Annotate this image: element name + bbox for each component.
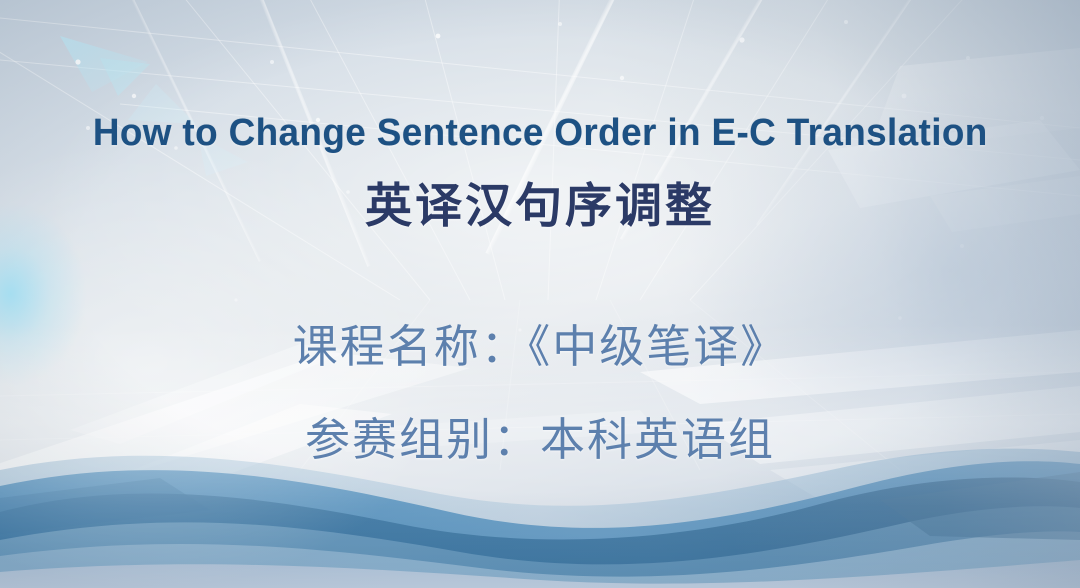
course-meta-block: 课程名称：《中级笔译》 参赛组别：本科英语组 [293,310,788,468]
contest-group-line: 参赛组别：本科英语组 [305,403,775,468]
title-text-block: How to Change Sentence Order in E-C Tran… [0,0,1080,588]
english-title: How to Change Sentence Order in E-C Tran… [93,112,988,155]
course-name-line: 课程名称：《中级笔译》 [293,310,788,375]
title-slide: How to Change Sentence Order in E-C Tran… [0,0,1080,588]
chinese-title: 英译汉句序调整 [365,167,715,236]
